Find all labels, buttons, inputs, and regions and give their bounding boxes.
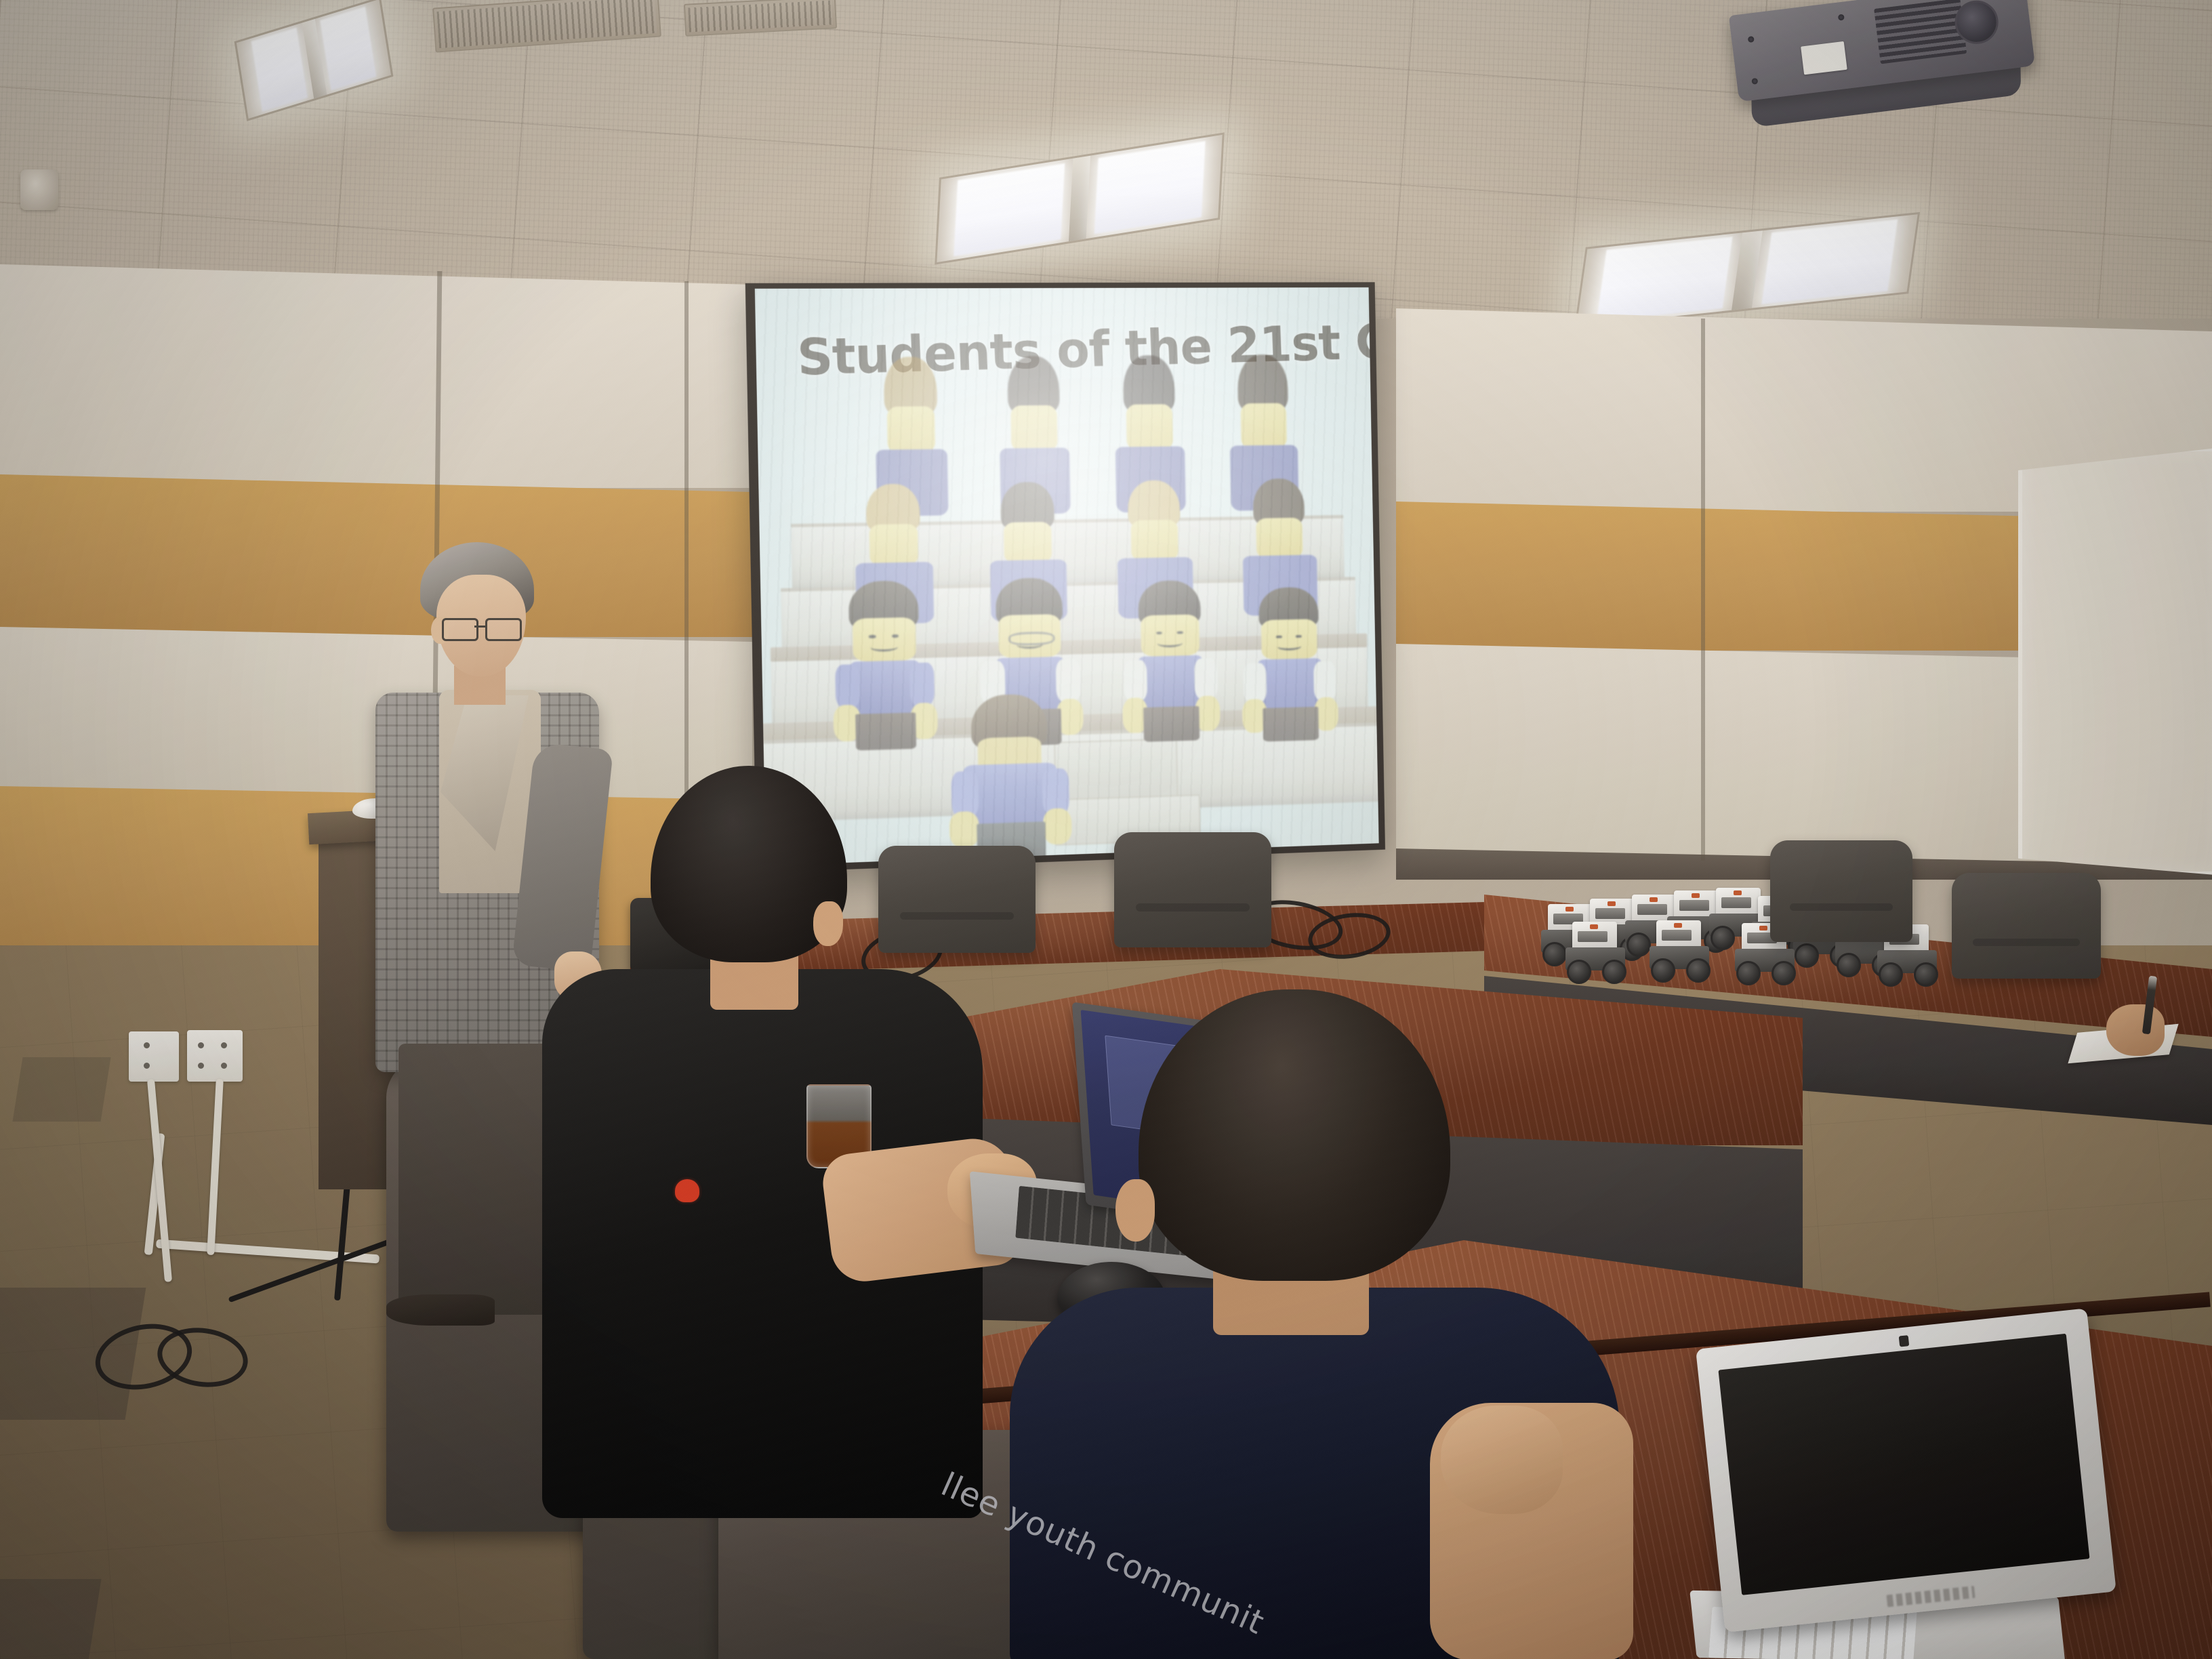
- whiteboard: [2018, 447, 2212, 876]
- presenter-glasses: [442, 618, 522, 638]
- participant-black-shirt: [542, 766, 1017, 1518]
- white-laptop-screen: [1718, 1334, 2089, 1595]
- carpet-tile: [12, 1057, 110, 1122]
- white-laptop[interactable]: [1664, 1306, 2144, 1659]
- participant-navy-shirt-hair: [1139, 989, 1450, 1281]
- lego-minifig-front-4: [1237, 586, 1342, 741]
- wall-seam-right-1: [1701, 319, 1705, 861]
- photo-scene: Students of the 21st Century: [0, 0, 2212, 1659]
- carpet-tile: [0, 1579, 102, 1659]
- wall-outlet-right: [187, 1030, 243, 1082]
- projector-label: [1801, 41, 1847, 75]
- robot-kit: [1647, 920, 1712, 980]
- webcam-icon: [1899, 1335, 1910, 1347]
- laptop-brand-mark: [1886, 1586, 1975, 1607]
- writing-hand: [2106, 1004, 2165, 1056]
- wall-left-upper: [0, 264, 752, 488]
- participant-fist: [1441, 1406, 1563, 1514]
- shirt-shoulder-logo: [675, 1179, 699, 1202]
- robot-kit: [1563, 922, 1628, 981]
- chair-back-row[interactable]: [1114, 832, 1271, 947]
- chair-right-row[interactable]: [1952, 873, 2101, 979]
- wall-outlet-left: [129, 1031, 179, 1082]
- ceiling-speaker: [20, 169, 58, 210]
- lego-minifig-front-1: [826, 580, 942, 748]
- lego-minifig-front-3: [1117, 579, 1223, 740]
- chair-right-row[interactable]: [1770, 840, 1912, 942]
- participant-navy-shirt: llee youth communit: [956, 989, 1633, 1659]
